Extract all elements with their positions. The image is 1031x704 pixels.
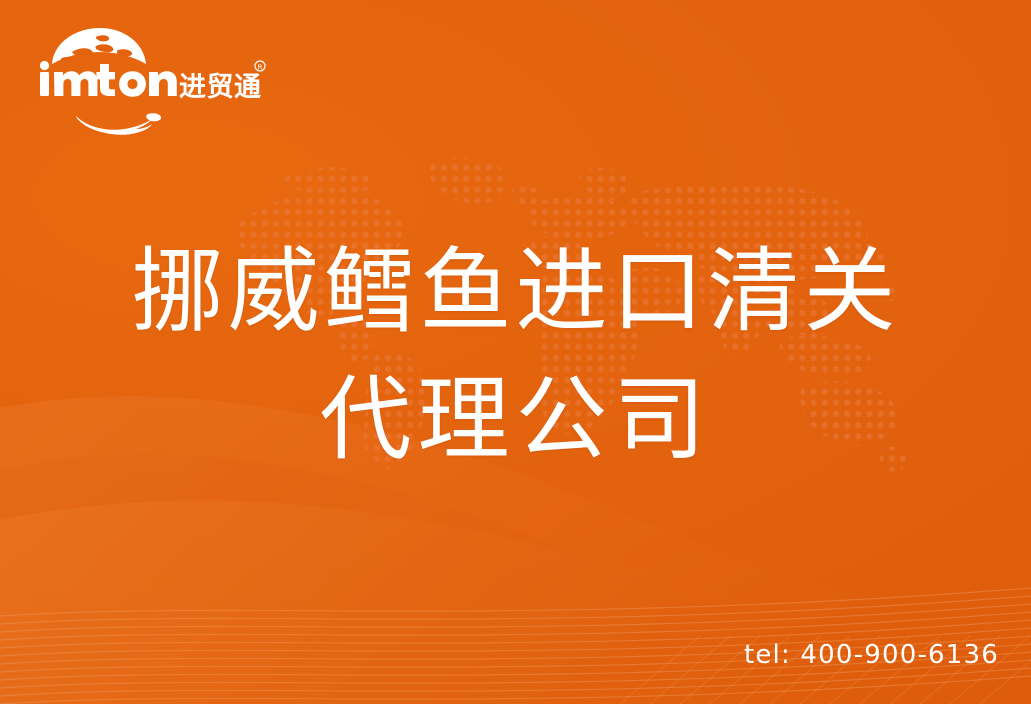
svg-text:进贸通: 进贸通 (179, 72, 262, 103)
logo-wordmark (40, 61, 177, 97)
logo-chinese-name: 进贸通 (179, 72, 262, 103)
svg-text:R: R (258, 64, 263, 72)
page-title-line1: 挪威鳕鱼进口清关 (0, 228, 1031, 356)
globe-dot-icon (52, 28, 146, 64)
page-title: 挪威鳕鱼进口清关 代理公司 (0, 228, 1031, 484)
company-logo[interactable]: 进贸通 R (38, 26, 228, 110)
promo-banner: 进贸通 R 挪威鳕鱼进口清关 代理公司 tel: 400-900-6136 (0, 0, 1031, 704)
page-title-line2: 代理公司 (0, 356, 1031, 484)
contact-phone[interactable]: tel: 400-900-6136 (744, 640, 999, 670)
